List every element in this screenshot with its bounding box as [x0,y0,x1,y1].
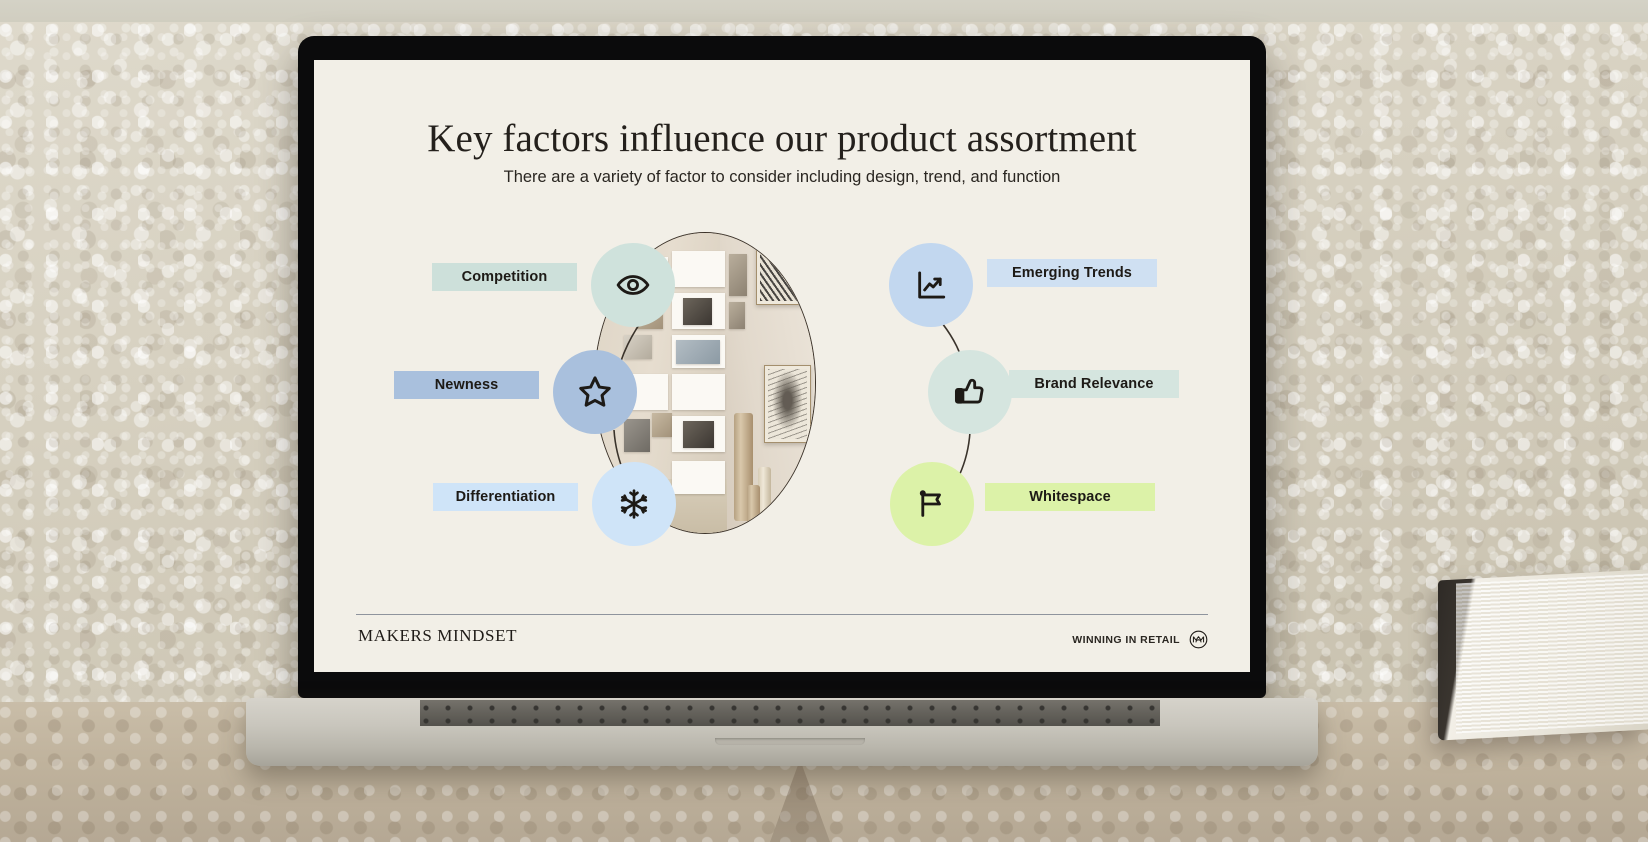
moodboard-paper [676,340,720,364]
factor-pill-differentiation[interactable]: Differentiation [433,483,578,511]
material-swatch [624,419,650,452]
laptop-screen: Key factors influence our product assort… [314,60,1250,672]
moodboard-paper [672,461,725,494]
room-scene: Key factors influence our product assort… [0,0,1648,842]
moodboard-paper [672,374,725,410]
presentation-slide: Key factors influence our product assort… [314,60,1250,672]
laptop-lid: Key factors influence our product assort… [298,36,1266,698]
footer-brand: MAKERS MINDSET [358,626,517,646]
moodboard-paper [672,251,725,287]
factor-node-brand-relevance[interactable] [928,350,1012,434]
factor-label: Newness [435,377,499,393]
moodboard-paper [729,302,744,329]
thumbs-up-icon [953,375,987,409]
flag-icon [915,487,949,521]
factor-pill-competition[interactable]: Competition [432,263,577,291]
factor-node-differentiation[interactable] [592,462,676,546]
moodboard-paper [729,254,747,296]
factor-node-whitespace[interactable] [890,462,974,546]
paper-roll [747,485,760,533]
star-icon [577,374,613,410]
material-swatch [624,335,653,359]
factor-pill-whitespace[interactable]: Whitespace [985,483,1155,511]
page-title: Key factors influence our product assort… [314,118,1250,161]
factor-pill-emerging-trends[interactable]: Emerging Trends [987,259,1157,287]
factor-node-competition[interactable] [591,243,675,327]
makers-mindset-monogram-icon [1189,630,1208,649]
moodboard-paper [683,298,712,325]
factor-pill-newness[interactable]: Newness [394,371,539,399]
moodboard-paper [683,421,714,448]
factor-label: Whitespace [1029,489,1111,505]
eye-icon [616,268,650,302]
footer-divider [356,614,1208,615]
snowflake-icon [618,488,650,520]
factor-label: Emerging Trends [1012,265,1132,281]
laptop-trackpad-notch [715,738,865,745]
laptop-keyboard [420,700,1160,726]
footer-meta: WINNING IN RETAIL [1072,630,1208,649]
factor-label: Differentiation [456,489,556,505]
book-prop [1438,569,1648,740]
material-swatch [652,413,672,437]
factor-label: Competition [462,269,548,285]
line-chart-icon [914,268,948,302]
framed-artwork [764,365,810,443]
framed-artwork [756,245,804,305]
page-subtitle: There are a variety of factor to conside… [314,168,1250,187]
factor-label: Brand Relevance [1034,376,1153,392]
factor-node-newness[interactable] [553,350,637,434]
footer-tagline: WINNING IN RETAIL [1072,634,1180,646]
factor-pill-brand-relevance[interactable]: Brand Relevance [1009,370,1179,398]
factor-node-emerging-trends[interactable] [889,243,973,327]
